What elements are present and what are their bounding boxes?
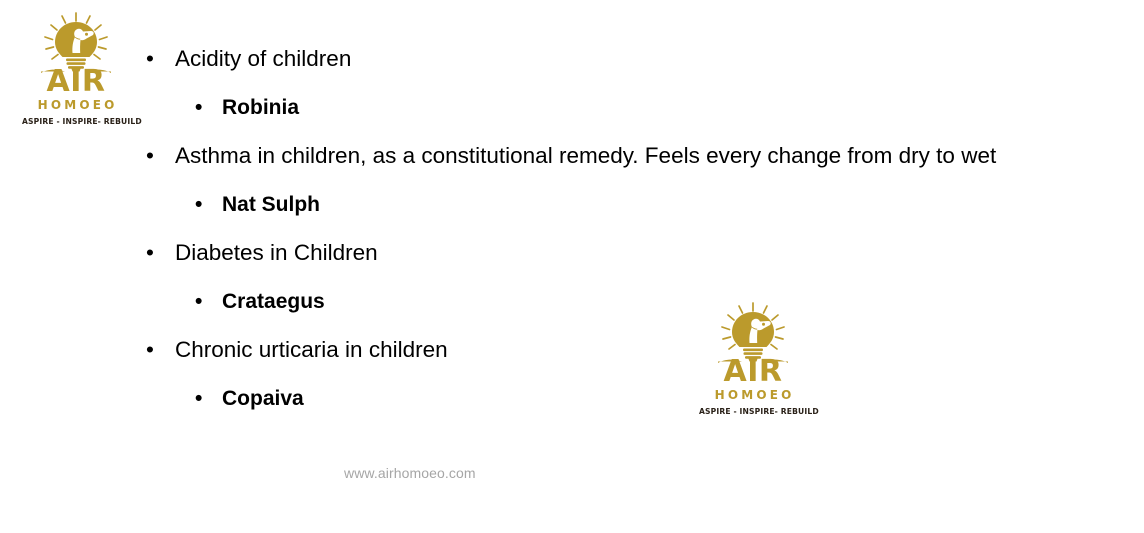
list-item: • Crataegus bbox=[142, 279, 1102, 327]
list-item: • Asthma in children, as a constitutiona… bbox=[142, 133, 1102, 182]
logo-wordmark: AIR bbox=[25, 67, 127, 97]
list-item: • Nat Sulph bbox=[142, 182, 1102, 230]
bullet-marker-icon: • bbox=[195, 182, 202, 228]
logo-tagline: ASPIRE - INSPIRE- REBUILD bbox=[22, 117, 130, 127]
bullet-marker-icon: • bbox=[146, 133, 154, 179]
list-item-label: Chronic urticaria in children bbox=[175, 337, 448, 362]
bullet-list: • Acidity of children • Robinia • Asthma… bbox=[142, 36, 1102, 424]
list-item-label: Nat Sulph bbox=[222, 193, 320, 216]
bullet-marker-icon: • bbox=[146, 327, 154, 373]
brand-logo-top-left: AIR HOMOEO ASPIRE - INSPIRE- REBUILD bbox=[25, 12, 127, 134]
slide-canvas: AIR HOMOEO ASPIRE - INSPIRE- REBUILD bbox=[0, 0, 1144, 533]
list-item-label: Crataegus bbox=[222, 290, 325, 313]
list-item: • Robinia bbox=[142, 85, 1102, 133]
bullet-marker-icon: • bbox=[146, 230, 154, 276]
list-item-label: Asthma in children, as a constitutional … bbox=[175, 143, 996, 168]
list-item: • Copaiva bbox=[142, 376, 1102, 424]
list-item-label: Diabetes in Children bbox=[175, 240, 378, 265]
bullet-marker-icon: • bbox=[146, 36, 154, 82]
bullet-marker-icon: • bbox=[195, 376, 202, 422]
bullet-marker-icon: • bbox=[195, 279, 202, 325]
list-item-label: Copaiva bbox=[222, 387, 304, 410]
logo-subtitle: HOMOEO bbox=[25, 98, 127, 112]
list-item: • Acidity of children bbox=[142, 36, 1102, 85]
website-watermark: www.airhomoeo.com bbox=[344, 463, 476, 483]
list-item-label: Robinia bbox=[222, 96, 299, 119]
list-item-label: Acidity of children bbox=[175, 46, 351, 71]
bullet-marker-icon: • bbox=[195, 85, 202, 131]
list-item: • Diabetes in Children bbox=[142, 230, 1102, 279]
list-item: • Chronic urticaria in children bbox=[142, 327, 1102, 376]
